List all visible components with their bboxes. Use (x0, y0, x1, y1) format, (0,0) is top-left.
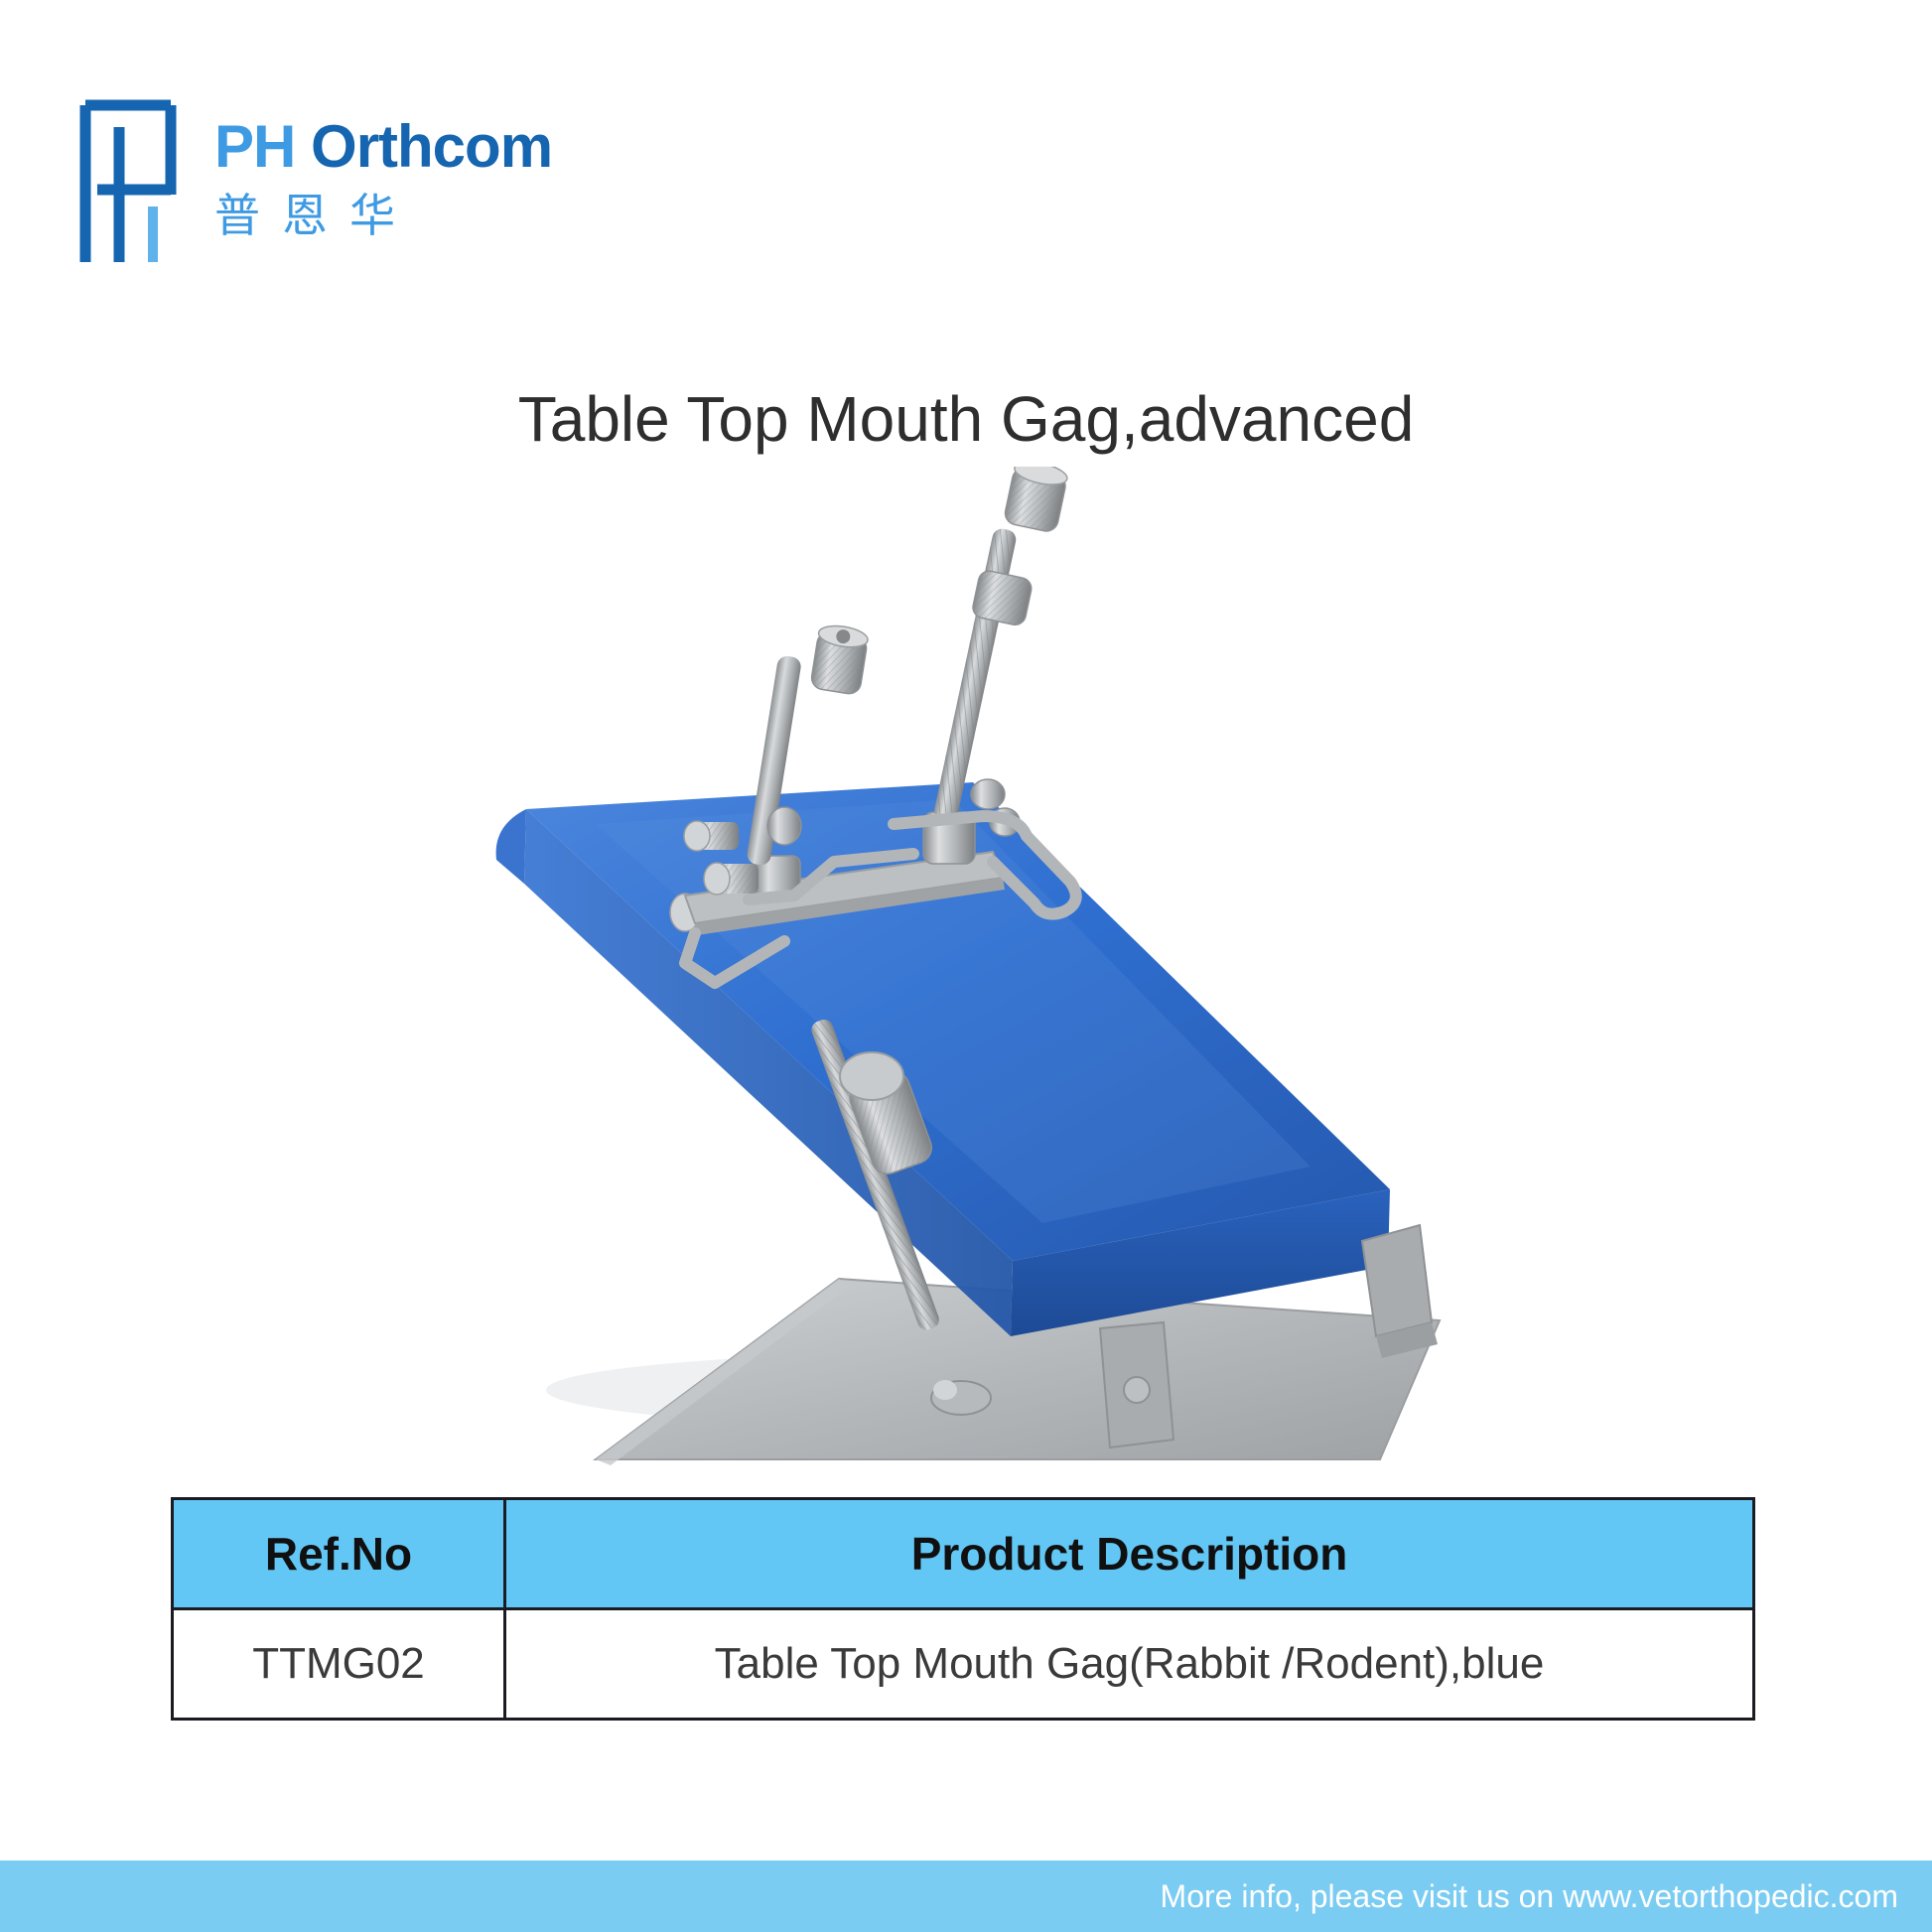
page-title: Table Top Mouth Gag,advanced (0, 382, 1932, 456)
table-row: TTMG02 Table Top Mouth Gag(Rabbit /Roden… (173, 1609, 1754, 1720)
product-photo (0, 467, 1932, 1469)
brand-wordmark: PH Orthcom (214, 117, 552, 177)
cell-ref-no: TTMG02 (173, 1609, 505, 1720)
brand-chinese-name: 普恩华 (214, 193, 552, 238)
brand-wordmark-ph: PH (214, 113, 295, 180)
table-header-row: Ref.No Product Description (173, 1499, 1754, 1609)
brand-text: PH Orthcom 普恩华 (214, 95, 552, 238)
table-header-ref-no: Ref.No (173, 1499, 505, 1609)
brand-wordmark-orthcom: Orthcom (311, 113, 552, 180)
right-upright-assembly (923, 467, 1069, 864)
ph-orthcom-logo-mark-icon (79, 95, 187, 262)
footer-bar: More info, please visit us on www.vetort… (0, 1861, 1932, 1932)
product-spec-table: Ref.No Product Description TTMG02 Table … (171, 1497, 1755, 1721)
brand-logo: PH Orthcom 普恩华 (79, 95, 552, 262)
footer-website-text: More info, please visit us on www.vetort… (1161, 1878, 1932, 1915)
product-photo-area: PH Orthcom (0, 467, 1932, 1469)
table-header-product-description: Product Description (505, 1499, 1754, 1609)
cell-product-description: Table Top Mouth Gag(Rabbit /Rodent),blue (505, 1609, 1754, 1720)
